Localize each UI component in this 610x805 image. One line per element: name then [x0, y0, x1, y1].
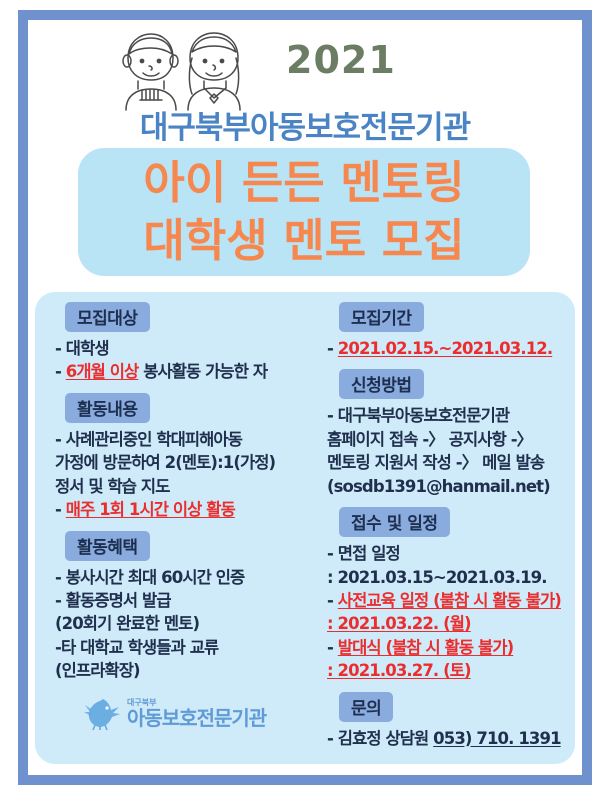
underlined-text: 053) 710. 1391	[433, 729, 561, 748]
section-heading: 접수 및 일정	[339, 507, 450, 537]
section-body: - 대구북부아동보호전문기관홈페이지 접속 -〉 공지사항 -〉멘토링 지원서 …	[321, 404, 565, 498]
poster-header: 2021 대구북부아동보호전문기관	[28, 20, 582, 150]
organization-name: 대구북부아동보호전문기관	[28, 102, 582, 147]
plain-text: -	[327, 638, 338, 657]
plain-text: - 대학생	[55, 339, 109, 358]
section-line: 가정에 방문하여 2(멘토):1(가정)	[55, 451, 315, 474]
plain-text: 가정에 방문하여 2(멘토):1(가정)	[55, 453, 275, 472]
plain-text: -	[55, 362, 66, 381]
main-title-line-2: 대학생 멘토 모집	[143, 212, 464, 270]
highlighted-text: 매주 1회 1시간 이상 활동	[66, 500, 235, 519]
plain-text: -	[327, 591, 338, 610]
plain-text: 홈페이지 접속 -〉 공지사항 -〉	[327, 430, 532, 449]
section-line: - 봉사시간 최대 60시간 인증	[55, 566, 315, 589]
bird-logo-icon	[83, 696, 121, 730]
plain-text: -	[327, 339, 338, 358]
plain-text: - 봉사시간 최대 60시간 인증	[55, 568, 244, 587]
section-heading: 모집대상	[65, 302, 150, 332]
section-line: - 매주 1회 1시간 이상 활동	[55, 498, 315, 521]
left-column: 모집대상- 대학생- 6개월 이상 봉사활동 가능한 자활동내용- 사례관리중인…	[49, 302, 317, 692]
main-title-box: 아이 든든 멘토링 대학생 멘토 모집	[78, 148, 530, 276]
plain-text: 봉사활동 가능한 자	[138, 362, 267, 381]
section-line: 정서 및 학습 지도	[55, 475, 315, 498]
section-line: - 대학생	[55, 337, 315, 360]
main-title-line-1: 아이 든든 멘토링	[143, 154, 464, 212]
plain-text: - 면접 일정	[327, 544, 400, 563]
plain-text: (20회기 완료한 멘토)	[55, 614, 199, 633]
section-line: - 6개월 이상 봉사활동 가능한 자	[55, 360, 315, 383]
section-line: : 2021.03.22. (월)	[327, 612, 563, 635]
plain-text: - 활동증명서 발급	[55, 591, 171, 610]
section-body: - 봉사시간 최대 60시간 인증- 활동증명서 발급 (20회기 완료한 멘토…	[49, 566, 317, 683]
plain-text: 멘토링 지원서 작성 -〉 메일 발송	[327, 453, 544, 472]
section-line: : 2021.03.27. (토)	[327, 659, 563, 682]
section-line: - 2021.02.15.~2021.03.12.	[327, 337, 563, 360]
section-heading: 신청방법	[339, 369, 424, 399]
section-line: (인프라확장)	[55, 659, 315, 682]
plain-text: (sosdb1391@hanmail.net)	[327, 477, 550, 496]
section-body: - 2021.02.15.~2021.03.12.	[321, 337, 565, 360]
plain-text: -타 대학교 학생들과 교류	[55, 638, 218, 657]
organization-logo: 대구북부 아동보호전문기관	[83, 696, 266, 730]
section-line: - 발대식 (불참 시 활동 불가)	[327, 636, 563, 659]
highlighted-text: : 2021.03.22. (월)	[327, 614, 471, 633]
highlighted-text: 발대식 (불참 시 활동 불가)	[338, 638, 513, 657]
section-line: - 활동증명서 발급	[55, 589, 315, 612]
plain-text: 정서 및 학습 지도	[55, 477, 170, 496]
section-body: - 면접 일정 : 2021.03.15~2021.03.19.- 사전교육 일…	[321, 542, 565, 683]
section-line: - 김효정 상담원 053) 710. 1391	[327, 727, 563, 750]
section-body: - 사례관리중인 학대피해아동 가정에 방문하여 2(멘토):1(가정) 정서 …	[49, 428, 317, 522]
section-line: - 사전교육 일정 (불참 시 활동 불가)	[327, 589, 563, 612]
poster-root: 2021 대구북부아동보호전문기관 아이 든든 멘토링 대학생 멘토 모집 모집…	[0, 0, 610, 805]
plain-text: - 대구북부아동보호전문기관	[327, 406, 509, 425]
section-line: - 면접 일정	[327, 542, 563, 565]
section-line: (sosdb1391@hanmail.net)	[327, 475, 563, 498]
plain-text: - 사례관리중인 학대피해아동	[55, 430, 242, 449]
section-heading: 모집기간	[339, 302, 424, 332]
plain-text: -	[55, 500, 66, 519]
highlighted-text: 6개월 이상	[66, 362, 139, 381]
logo-title: 아동보호전문기관	[127, 708, 266, 728]
section-line: 멘토링 지원서 작성 -〉 메일 발송	[327, 451, 563, 474]
plain-text: - 김효정 상담원	[327, 729, 433, 748]
section-line: - 사례관리중인 학대피해아동	[55, 428, 315, 451]
highlighted-text: : 2021.03.27. (토)	[327, 661, 471, 680]
section-line: -타 대학교 학생들과 교류	[55, 636, 315, 659]
highlighted-text: 사전교육 일정 (불참 시 활동 불가)	[338, 591, 561, 610]
section-heading: 문의	[339, 692, 393, 722]
section-heading: 활동내용	[65, 393, 150, 423]
right-column: 모집기간- 2021.02.15.~2021.03.12.신청방법- 대구북부아…	[321, 302, 565, 759]
section-line: 홈페이지 접속 -〉 공지사항 -〉	[327, 428, 563, 451]
plain-text: (인프라확장)	[55, 661, 140, 680]
info-panel: 모집대상- 대학생- 6개월 이상 봉사활동 가능한 자활동내용- 사례관리중인…	[35, 292, 575, 764]
section-heading: 활동혜택	[65, 531, 150, 561]
highlighted-text: 2021.02.15.~2021.03.12.	[338, 339, 552, 358]
year-label: 2021	[286, 38, 396, 82]
section-line: - 대구북부아동보호전문기관	[327, 404, 563, 427]
section-body: - 대학생- 6개월 이상 봉사활동 가능한 자	[49, 337, 317, 384]
section-line: : 2021.03.15~2021.03.19.	[327, 566, 563, 589]
plain-text: : 2021.03.15~2021.03.19.	[327, 568, 547, 587]
section-body: - 김효정 상담원 053) 710. 1391	[321, 727, 565, 750]
section-line: (20회기 완료한 멘토)	[55, 612, 315, 635]
